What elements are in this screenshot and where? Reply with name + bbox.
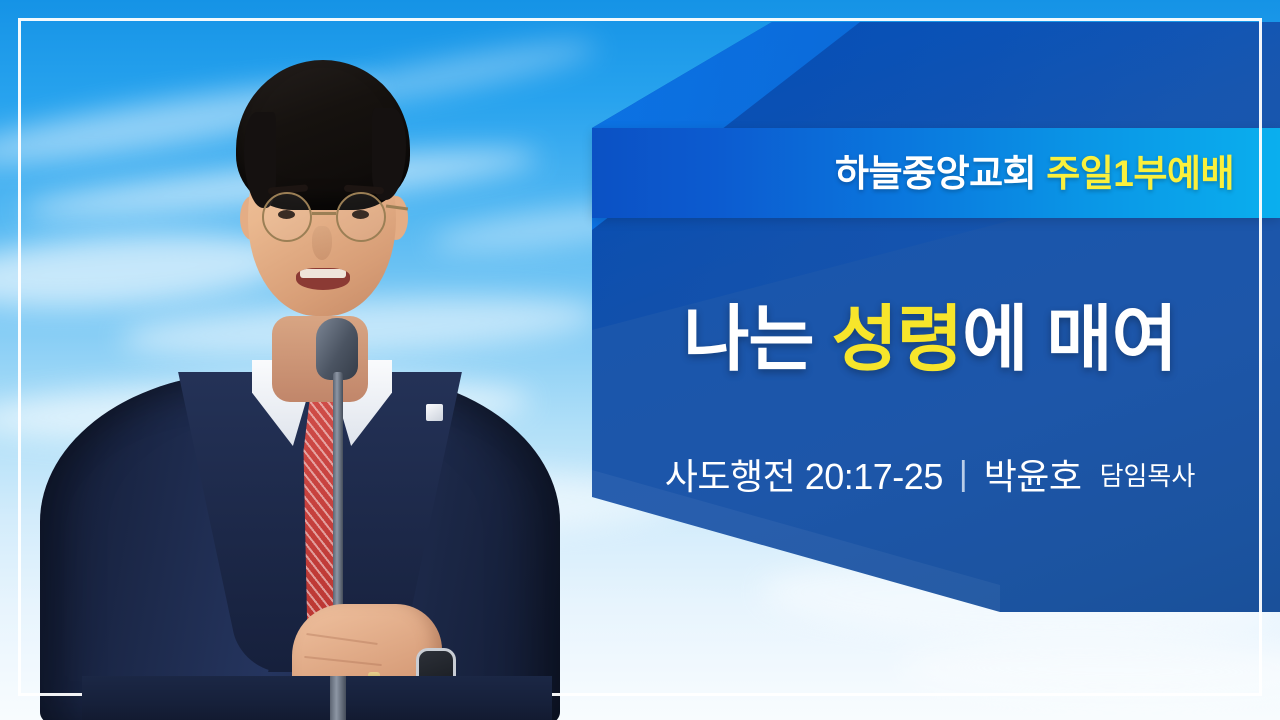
sermon-title-part1: 나는 — [683, 304, 813, 376]
eyeglasses-bridge — [312, 212, 336, 215]
speaker-name: 박윤호 — [984, 448, 1082, 500]
frame-occlusion-mic — [330, 676, 346, 720]
eyeglasses-lens-right — [336, 192, 386, 242]
sermon-title-part2: 에 매여 — [962, 304, 1177, 376]
nose — [312, 226, 332, 260]
sermon-title-highlight: 성령 — [832, 304, 962, 376]
lapel-pin — [426, 404, 443, 421]
teeth — [300, 269, 346, 278]
speaker-role: 담임목사 — [1100, 456, 1196, 493]
eyeglasses-lens-left — [262, 192, 312, 242]
sermon-title-card: 하늘중앙교회 주일1부예배 나는 성령 에 매여 사도행전 20:17-25 |… — [0, 0, 1280, 720]
subtitle-divider: | — [959, 455, 968, 494]
sermon-subtitle: 사도행전 20:17-25 | 박윤호 담임목사 — [592, 446, 1268, 502]
speaker-portrait — [0, 0, 620, 720]
church-name: 하늘중앙교회 — [835, 155, 1036, 192]
service-name: 주일1부예배 — [1046, 155, 1234, 192]
microphone-head — [316, 318, 358, 380]
frame-occlusion-suit — [82, 676, 552, 720]
mouth — [296, 268, 350, 290]
scripture-reference: 사도행전 20:17-25 — [665, 448, 943, 500]
service-banner: 하늘중앙교회 주일1부예배 — [592, 128, 1280, 218]
sermon-title: 나는 성령 에 매여 — [592, 292, 1268, 388]
